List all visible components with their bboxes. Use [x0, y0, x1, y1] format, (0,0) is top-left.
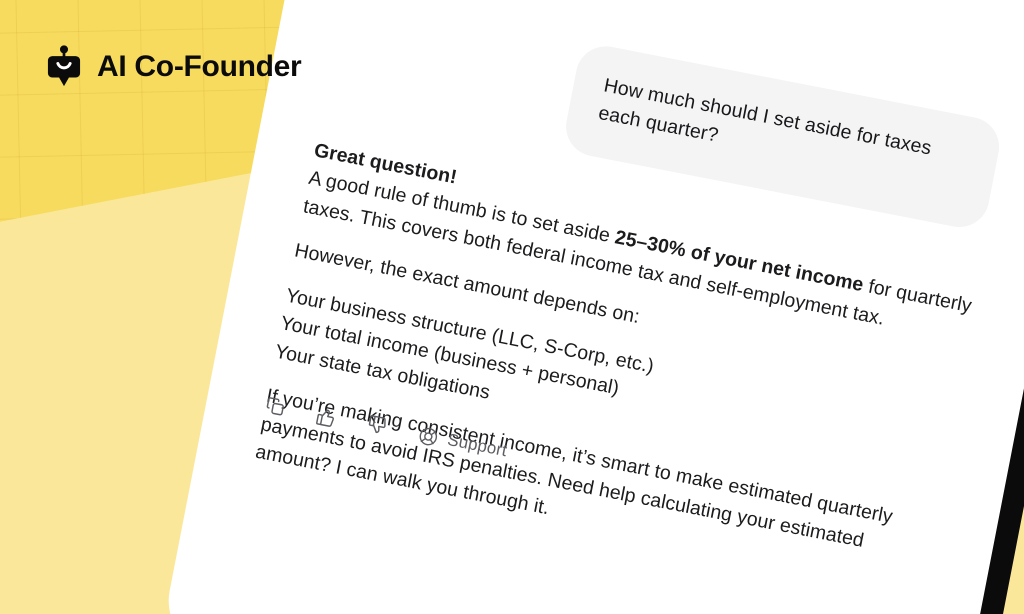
thumbs-down-icon: [365, 413, 391, 439]
robot-head-icon: [44, 45, 84, 89]
thumbs-down-button[interactable]: [365, 413, 391, 439]
copy-icon: [263, 394, 289, 420]
thumbs-up-button[interactable]: [314, 403, 340, 429]
brand-lockup: AI Co-Founder: [44, 45, 301, 89]
thumbs-up-icon: [314, 403, 340, 429]
brand-name: AI Co-Founder: [97, 50, 301, 84]
chat-card-inner: How much should I set aside for taxes ea…: [159, 0, 1024, 614]
copy-button[interactable]: [263, 394, 289, 420]
screenshot-stage: How much should I set aside for taxes ea…: [0, 0, 1024, 614]
chat-card: How much should I set aside for taxes ea…: [159, 0, 1024, 614]
lifebuoy-icon: [416, 424, 441, 449]
